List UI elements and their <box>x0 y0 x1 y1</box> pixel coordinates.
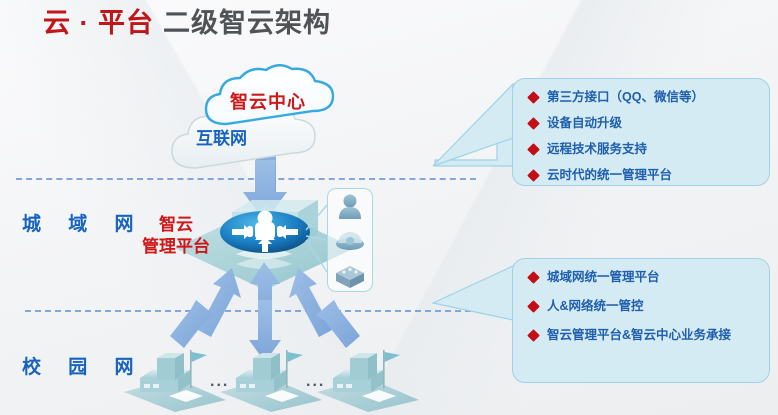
callout-1-list: 第三方接口（QQ、微信等） 设备自动升级 远程技术服务支持 云时代的统一管理平台 <box>513 79 769 183</box>
diagram-canvas: 云 · 平台二级智云架构 城 域 网 校 园 网 <box>0 0 778 415</box>
callout-tail-top <box>433 84 513 166</box>
diamond-bullet-icon <box>527 300 540 313</box>
callout-cloud-center-features: 第三方接口（QQ、微信等） 设备自动升级 远程技术服务支持 云时代的统一管理平台 <box>512 78 770 186</box>
callout-1-item-3-label: 远程技术服务支持 <box>547 141 647 157</box>
callout-1-item-4: 云时代的统一管理平台 <box>529 167 769 183</box>
callout-2-item-1-label: 城域网统一管理平台 <box>547 269 660 285</box>
platform-label-line2: 管理平台 <box>128 236 224 258</box>
callout-2-item-2-label: 人&网络统一管控 <box>547 298 644 314</box>
callout-1-item-2: 设备自动升级 <box>529 115 769 131</box>
campus-ellipsis-1: ... <box>210 373 229 391</box>
diamond-bullet-icon <box>527 143 540 156</box>
callout-2-item-1: 城域网统一管理平台 <box>529 269 769 285</box>
callout-2-list: 城域网统一管理平台 人&网络统一管控 智云管理平台&智云中心业务承接 <box>513 259 769 343</box>
callout-1-item-1: 第三方接口（QQ、微信等） <box>529 89 769 105</box>
cloud-dome-icon <box>336 232 364 250</box>
zhiyun-center-label: 智云中心 <box>230 88 306 114</box>
campus-ellipsis-2: ... <box>306 373 325 391</box>
callout-1-item-4-label: 云时代的统一管理平台 <box>547 167 672 183</box>
user-icon <box>339 195 361 220</box>
campus-node-3 <box>317 350 419 412</box>
diamond-bullet-icon <box>527 117 540 130</box>
callout-1-item-2-label: 设备自动升级 <box>547 115 622 131</box>
callout-2-item-2: 人&网络统一管控 <box>529 298 769 314</box>
callout-city-platform-features: 城域网统一管理平台 人&网络统一管控 智云管理平台&智云中心业务承接 <box>512 258 770 383</box>
side-icon-strip <box>327 188 373 292</box>
diamond-bullet-icon <box>527 329 540 342</box>
diamond-bullet-icon <box>527 91 540 104</box>
platform-label: 智云 管理平台 <box>128 214 224 258</box>
diamond-bullet-icon <box>527 169 540 182</box>
callout-1-item-1-label: 第三方接口（QQ、微信等） <box>547 89 704 105</box>
platform-label-line1: 智云 <box>128 214 224 236</box>
server-device-icon <box>336 266 364 288</box>
callout-2-item-3: 智云管理平台&智云中心业务承接 <box>529 327 769 343</box>
diamond-bullet-icon <box>527 271 540 284</box>
callout-tail-bottom <box>433 266 513 320</box>
internet-cloud-label: 互联网 <box>196 124 247 149</box>
callout-1-item-3: 远程技术服务支持 <box>529 141 769 157</box>
callout-2-item-3-label: 智云管理平台&智云中心业务承接 <box>547 327 731 343</box>
